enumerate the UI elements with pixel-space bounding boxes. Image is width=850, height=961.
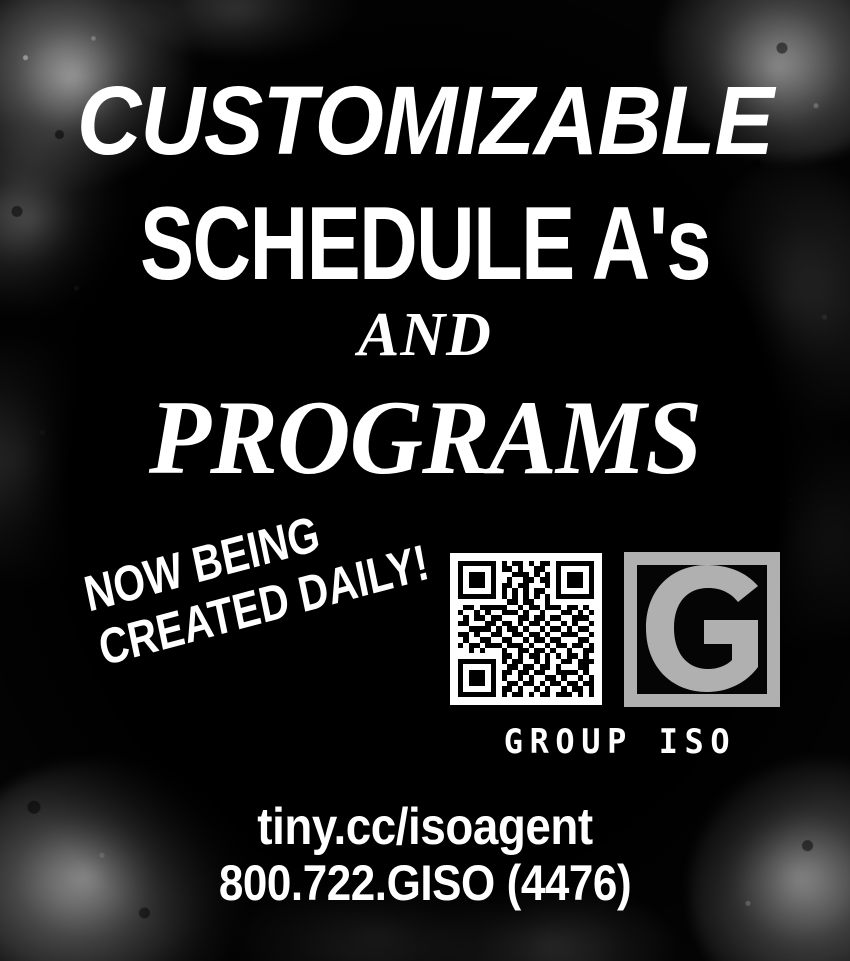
qr-code[interactable] (450, 553, 602, 705)
contact-block: tiny.cc/isoagent 800.722.GISO (4476) (0, 800, 850, 911)
headline-line-programs: PROGRAMS (17, 385, 833, 491)
headline-line-customizable: CUSTOMIZABLE (34, 72, 816, 169)
poster-content: CUSTOMIZABLE SCHEDULE A's AND PROGRAMS N… (0, 0, 850, 961)
contact-phone[interactable]: 800.722.GISO (4476) (51, 855, 799, 911)
headline-line-and: AND (0, 304, 850, 366)
logo-g-letter (624, 551, 780, 706)
qr-code-modules (458, 561, 594, 697)
poster-canvas: CUSTOMIZABLE SCHEDULE A's AND PROGRAMS N… (0, 0, 850, 961)
group-iso-logo[interactable] (624, 552, 780, 707)
burst-callout: NOW BEING CREATED DAILY! (78, 480, 435, 676)
contact-url[interactable]: tiny.cc/isoagent (51, 800, 799, 855)
headline-line-schedule-as: SCHEDULE A's (94, 192, 757, 296)
logo-caption-group-iso: GROUP ISO (451, 722, 789, 762)
